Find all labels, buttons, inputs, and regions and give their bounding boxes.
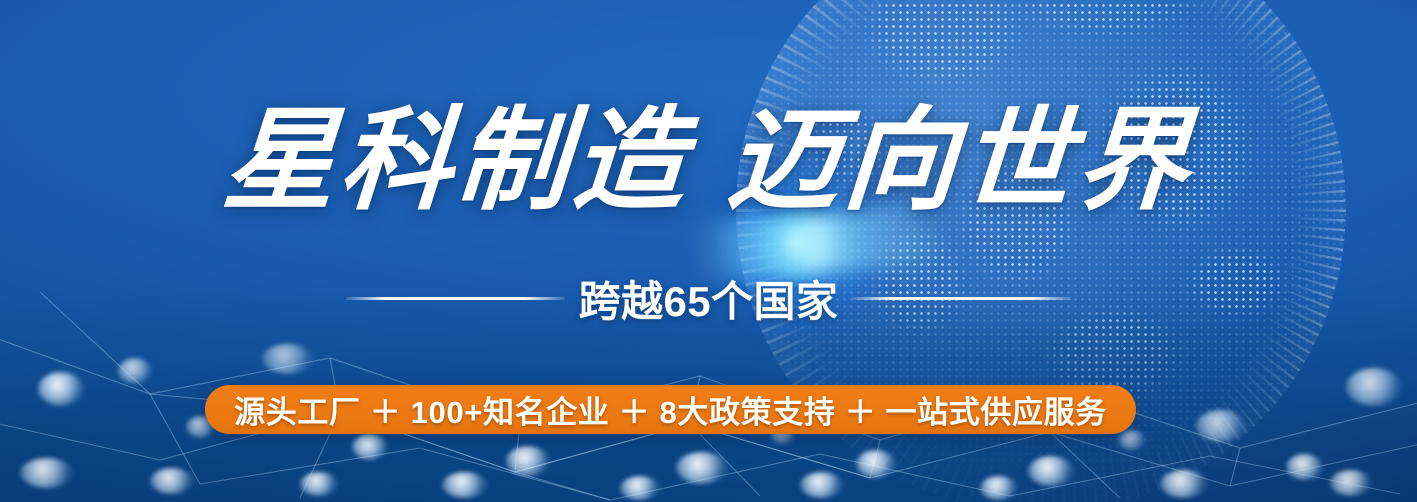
banner-content: 星科制造迈向世界 跨越65个国家 源头工厂 ＋ 100+知名企业 ＋ 8大政策支…	[0, 0, 1417, 502]
headline-part-right: 迈向世界	[723, 95, 1198, 226]
promo-banner: 星科制造迈向世界 跨越65个国家 源头工厂 ＋ 100+知名企业 ＋ 8大政策支…	[0, 0, 1417, 502]
headline-part-left: 星科制造	[219, 95, 694, 226]
divider-rule-right	[852, 297, 1071, 300]
banner-subheadline-row: 跨越65个国家	[0, 268, 1417, 329]
banner-headline: 星科制造迈向世界	[0, 104, 1417, 218]
value-proposition-pill[interactable]: 源头工厂 ＋ 100+知名企业 ＋ 8大政策支持 ＋ 一站式供应服务	[205, 385, 1136, 434]
banner-subtitle: 跨越65个国家	[565, 268, 853, 329]
divider-rule-left	[346, 297, 565, 300]
value-proposition-text: 源头工厂 ＋ 100+知名企业 ＋ 8大政策支持 ＋ 一站式供应服务	[234, 387, 1107, 432]
